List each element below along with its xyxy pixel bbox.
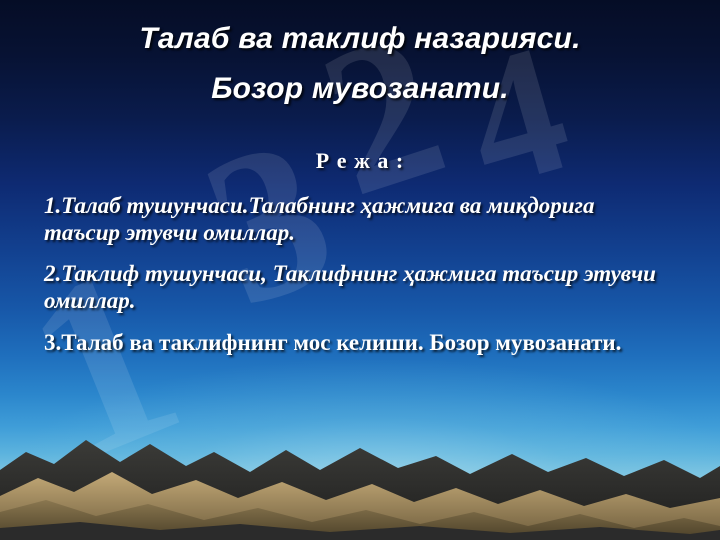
plan-heading: Р е ж а : xyxy=(0,106,720,174)
list-item: 1.Талаб тушунчаси.Талабнинг ҳажмига ва м… xyxy=(44,192,676,246)
list-item: 3.Талаб ва таклифнинг мос келиши. Бозор … xyxy=(44,329,676,356)
slide-title-line-1: Талаб ва таклиф назарияси. xyxy=(139,22,580,55)
slide: 1 2 3 4 Талаб ва таклиф назарияси. Бозор… xyxy=(0,0,720,540)
slide-content: Талаб ва таклиф назарияси. Бозор мувозан… xyxy=(0,0,720,356)
list-item: 2.Таклиф тушунчаси, Таклифнинг ҳажмига т… xyxy=(44,260,676,314)
slide-title: Талаб ва таклиф назарияси. Бозор мувозан… xyxy=(0,0,720,106)
plan-list: 1.Талаб тушунчаси.Талабнинг ҳажмига ва м… xyxy=(0,174,720,356)
mountain-landscape-graphic xyxy=(0,400,720,540)
slide-title-line-2: Бозор мувозанати. xyxy=(0,56,720,106)
